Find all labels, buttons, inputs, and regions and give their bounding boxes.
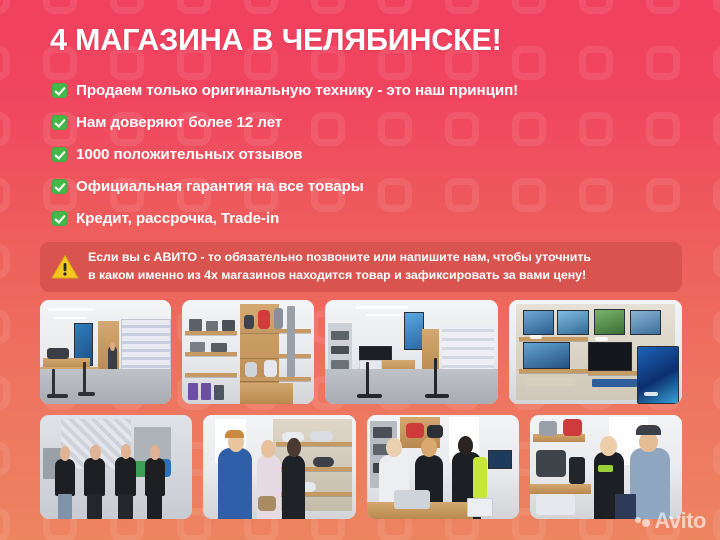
list-item-label: 1000 положительных отзывов — [76, 146, 302, 163]
pattern-ring — [512, 0, 546, 14]
pattern-ring — [378, 0, 412, 14]
photo-row-2 — [40, 415, 682, 519]
photo-three-women-counter[interactable] — [367, 415, 519, 519]
photo-staff-helping-customer[interactable] — [530, 415, 682, 519]
pattern-ring — [0, 178, 10, 212]
pattern-ring — [579, 0, 613, 14]
check-icon — [52, 83, 67, 98]
pattern-ring — [0, 442, 10, 476]
pattern-ring — [713, 46, 720, 80]
pattern-ring — [110, 0, 144, 14]
pattern-ring — [713, 112, 720, 146]
pattern-ring — [311, 0, 345, 14]
pattern-ring — [0, 0, 10, 14]
check-icon — [52, 147, 67, 162]
pattern-ring — [445, 0, 479, 14]
pattern-ring — [713, 244, 720, 278]
warning-notice-text: Если вы с АВИТО - то обязательно позвони… — [88, 249, 591, 284]
list-item: Официальная гарантия на все товары — [52, 170, 672, 202]
pattern-ring — [0, 310, 10, 344]
photo-store-aisle-scooters[interactable] — [325, 300, 498, 404]
pattern-ring — [646, 0, 680, 14]
warning-notice-line-2: в каком именно из 4х магазинов находится… — [88, 267, 591, 285]
list-item-label: Официальная гарантия на все товары — [76, 178, 364, 195]
warning-triangle-icon — [51, 254, 79, 280]
warning-notice: Если вы с АВИТО - то обязательно позвони… — [40, 242, 682, 292]
photo-customers-at-shelves[interactable] — [203, 415, 355, 519]
pattern-ring — [0, 508, 10, 540]
pattern-ring — [0, 376, 10, 410]
photo-appliance-shelving[interactable] — [182, 300, 313, 404]
pattern-ring — [713, 376, 720, 410]
list-item: Нам доверяют более 12 лет — [52, 106, 672, 138]
list-item-label: Продаем только оригинальную технику - эт… — [76, 82, 518, 99]
pattern-ring — [713, 442, 720, 476]
photo-showroom-counter[interactable] — [40, 300, 171, 404]
photo-staff-team[interactable] — [40, 415, 192, 519]
photo-tv-wall[interactable] — [509, 300, 682, 404]
list-item-label: Кредит, рассрочка, Trade-in — [76, 210, 279, 227]
list-item-label: Нам доверяют более 12 лет — [76, 114, 282, 131]
list-item: 1000 положительных отзывов — [52, 138, 672, 170]
pattern-ring — [713, 310, 720, 344]
pattern-ring — [0, 244, 10, 278]
pattern-ring — [244, 0, 278, 14]
photo-row-1 — [40, 300, 682, 404]
photo-grid — [40, 300, 682, 519]
pattern-ring — [0, 46, 10, 80]
pattern-ring — [177, 0, 211, 14]
list-item: Продаем только оригинальную технику - эт… — [52, 74, 672, 106]
page-title: 4 МАГАЗИНА В ЧЕЛЯБИНСКЕ! — [50, 24, 690, 56]
pattern-ring — [713, 178, 720, 212]
warning-notice-line-1: Если вы с АВИТО - то обязательно позвони… — [88, 249, 591, 267]
pattern-ring — [713, 508, 720, 540]
pattern-ring — [713, 0, 720, 14]
check-icon — [52, 211, 67, 226]
feature-list: Продаем только оригинальную технику - эт… — [52, 74, 672, 234]
list-item: Кредит, рассрочка, Trade-in — [52, 202, 672, 234]
pattern-ring — [43, 0, 77, 14]
advertisement-banner: 4 МАГАЗИНА В ЧЕЛЯБИНСКЕ! Продаем только … — [0, 0, 720, 540]
pattern-ring — [0, 112, 10, 146]
check-icon — [52, 179, 67, 194]
check-icon — [52, 115, 67, 130]
